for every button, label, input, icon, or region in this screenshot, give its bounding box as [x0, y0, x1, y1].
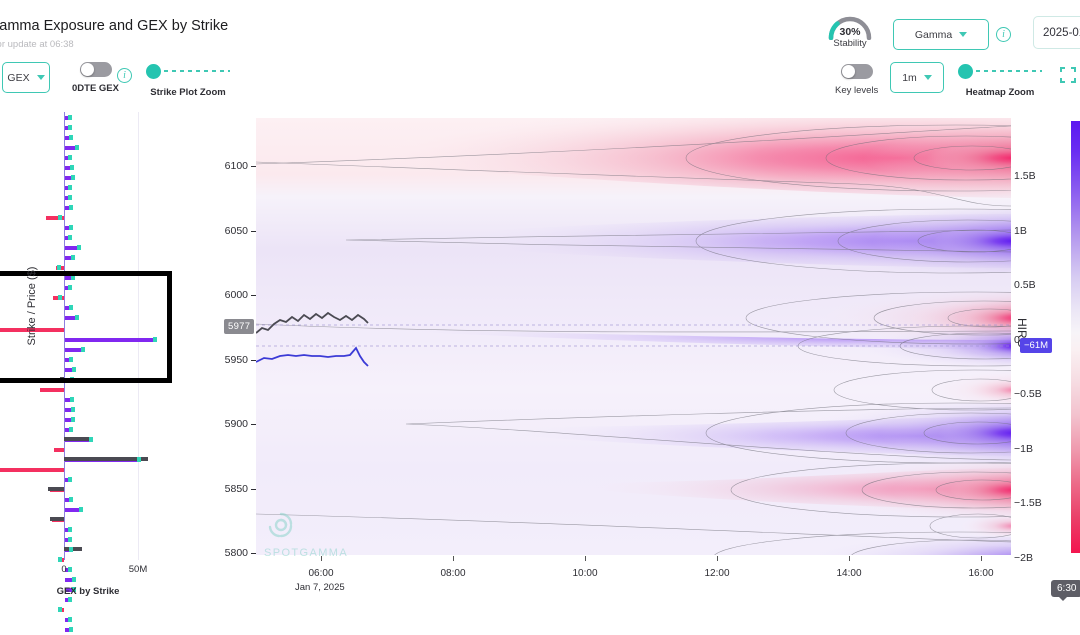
bar-tick-marker	[71, 175, 75, 180]
bar-tick-marker	[58, 557, 62, 562]
heatmap-y-axis: 6100605060005950590058505800	[200, 112, 256, 560]
heatmap-zoom-label: Heatmap Zoom	[966, 87, 1035, 98]
bar-tick-marker	[69, 547, 73, 552]
bar-tick-marker	[68, 537, 72, 542]
slider-thumb[interactable]	[146, 64, 161, 79]
heatmap-y-tick: 5950	[225, 354, 248, 366]
gamma-select-label: Gamma	[915, 29, 952, 41]
bar-tick-marker	[68, 527, 72, 532]
date-value: 2025-01	[1043, 27, 1080, 39]
stability-value: 30%	[826, 26, 874, 38]
toggle-0dte-label: 0DTE GEX	[72, 83, 119, 94]
axis-tick-mark	[717, 556, 718, 561]
heatmap-zoom-slider[interactable]: Heatmap Zoom	[958, 64, 1042, 98]
heatmap-y-tick: 5900	[225, 418, 248, 430]
bar-tick-marker	[75, 145, 79, 150]
bar-tick-marker	[69, 225, 73, 230]
bar-tick-marker	[58, 607, 62, 612]
colorbar-tick: −0.5B	[1014, 388, 1042, 400]
heatmap-x-axis: 06:0008:0010:0012:0014:0016:00	[256, 556, 1011, 586]
bar-x-axis: M050M	[0, 564, 176, 578]
bar-reference-marker	[64, 547, 82, 551]
stability-label: Stability	[826, 38, 874, 49]
heatmap-x-tick: 10:00	[572, 568, 597, 579]
bar-tick-marker	[71, 417, 75, 422]
bar-positive	[65, 578, 72, 582]
bar-reference-marker	[50, 517, 64, 521]
time-tooltip: 6:30	[1051, 580, 1080, 597]
price-marker-badge: 5977	[224, 319, 254, 334]
bar-tick-marker	[71, 255, 75, 260]
bar-tick-marker	[68, 477, 72, 482]
heatmap-x-tick: 08:00	[440, 568, 465, 579]
bar-tick-marker	[68, 617, 72, 622]
bar-positive	[65, 246, 77, 250]
axis-tick-mark	[849, 556, 850, 561]
slider-track[interactable]	[958, 64, 1042, 78]
chevron-down-icon	[924, 75, 932, 80]
bar-tick-marker	[68, 235, 72, 240]
bar-negative	[0, 468, 64, 472]
axis-tick-mark	[585, 556, 586, 561]
bar-tick-marker	[69, 427, 73, 432]
info-icon[interactable]: i	[117, 68, 132, 83]
bar-negative	[54, 448, 64, 452]
spotgamma-watermark: SPOTGAMMA	[264, 508, 348, 559]
heatmap-x-tick: 06:00	[308, 568, 333, 579]
colorbar-tick: −1.5B	[1014, 497, 1042, 509]
chevron-down-icon	[959, 32, 967, 37]
bar-tick-marker	[69, 497, 73, 502]
heatmap-svg	[256, 118, 1011, 555]
bar-tick-marker	[79, 507, 83, 512]
toggle-key-levels-switch[interactable]	[841, 64, 873, 79]
bar-tick-marker	[71, 407, 75, 412]
heatmap-x-tick: 16:00	[968, 568, 993, 579]
heatmap-y-tick: 6100	[225, 160, 248, 172]
bar-tick-marker	[68, 155, 72, 160]
bar-tick-marker	[68, 115, 72, 120]
bar-tick-marker	[68, 185, 72, 190]
bar-tick-marker	[69, 205, 73, 210]
toggle-key-levels-label: Key levels	[835, 85, 878, 96]
metric-select[interactable]: GEX	[2, 62, 50, 93]
date-input[interactable]: 2025-01	[1033, 16, 1080, 49]
axis-tick-mark	[321, 556, 322, 561]
axis-tick-mark	[981, 556, 982, 561]
spotgamma-logo-icon	[264, 508, 298, 540]
bar-positive	[65, 146, 75, 150]
bar-tick-marker	[70, 397, 74, 402]
colorbar-tick: 0.5B	[1014, 279, 1036, 291]
bar-tick-marker	[137, 457, 141, 462]
bar-positive	[65, 508, 79, 512]
bar-chart-caption: GEX by Strike	[0, 586, 176, 597]
colorbar-tick: −2B	[1014, 552, 1033, 564]
fullscreen-icon[interactable]	[1060, 67, 1076, 83]
interval-select-label: 1m	[902, 72, 917, 84]
heatmap-plot[interactable]	[256, 118, 1011, 555]
slider-thumb[interactable]	[958, 64, 973, 79]
toggle-knob	[842, 65, 855, 78]
hiro-value-badge: −61M	[1020, 338, 1052, 353]
interval-select[interactable]: 1m	[890, 62, 944, 93]
gamma-select[interactable]: Gamma	[893, 19, 989, 50]
info-icon[interactable]: i	[996, 27, 1011, 42]
bar-tick-marker	[68, 195, 72, 200]
bar-tick-marker	[89, 437, 93, 442]
chevron-down-icon	[37, 75, 45, 80]
heatmap-y-tick: 6000	[225, 289, 248, 301]
bar-tick-marker	[69, 627, 73, 632]
colorbar-tick: −1B	[1014, 443, 1033, 455]
axis-tick-mark	[453, 556, 454, 561]
heatmap-x-tick: 14:00	[836, 568, 861, 579]
update-status: d for update at 06:38	[0, 39, 74, 50]
bar-tick-marker	[68, 125, 72, 130]
heatmap-x-tick: 12:00	[704, 568, 729, 579]
gamma-exposure-dashboard: Gamma Exposure and GEX by Strike d for u…	[0, 0, 1080, 635]
bar-tick-marker	[70, 165, 74, 170]
bar-tick-marker	[57, 265, 61, 270]
heatmap-y-tick: 5850	[225, 483, 248, 495]
toggle-0dte-gex[interactable]: 0DTE GEX	[72, 62, 119, 94]
bar-tick-marker	[77, 245, 81, 250]
toggle-0dte-switch[interactable]	[80, 62, 112, 77]
page-title: Gamma Exposure and GEX by Strike	[0, 18, 228, 34]
strike-plot-zoom-slider[interactable]: Strike Plot Zoom	[146, 64, 230, 98]
bar-x-tick: 0	[61, 564, 66, 575]
heatmap-date-label: Jan 7, 2025	[295, 582, 345, 593]
heatmap-y-tick: 5800	[225, 547, 248, 559]
strike-plot-zoom-label: Strike Plot Zoom	[150, 87, 225, 98]
bar-x-tick: 50M	[129, 564, 147, 575]
bar-reference-marker	[64, 457, 148, 461]
bar-reference-marker	[48, 487, 64, 491]
bar-tick-marker	[68, 597, 72, 602]
bar-tick-marker	[69, 135, 73, 140]
colorbar-tick: 1B	[1014, 225, 1027, 237]
metric-select-label: GEX	[7, 72, 29, 84]
heatmap-y-axis-label: Strike / Price ($)	[26, 251, 38, 361]
heatmap-y-tick: 6050	[225, 225, 248, 237]
toggle-key-levels[interactable]: Key levels	[835, 64, 878, 96]
toggle-knob	[81, 63, 94, 76]
slider-dots	[968, 70, 1042, 72]
bar-tick-marker	[58, 215, 62, 220]
colorbar-gradient	[1071, 121, 1080, 553]
stability-gauge: 30% Stability	[826, 12, 874, 49]
slider-dots	[156, 70, 230, 72]
slider-track[interactable]	[146, 64, 230, 78]
bar-negative	[40, 388, 64, 392]
colorbar-tick: 1.5B	[1014, 170, 1036, 182]
